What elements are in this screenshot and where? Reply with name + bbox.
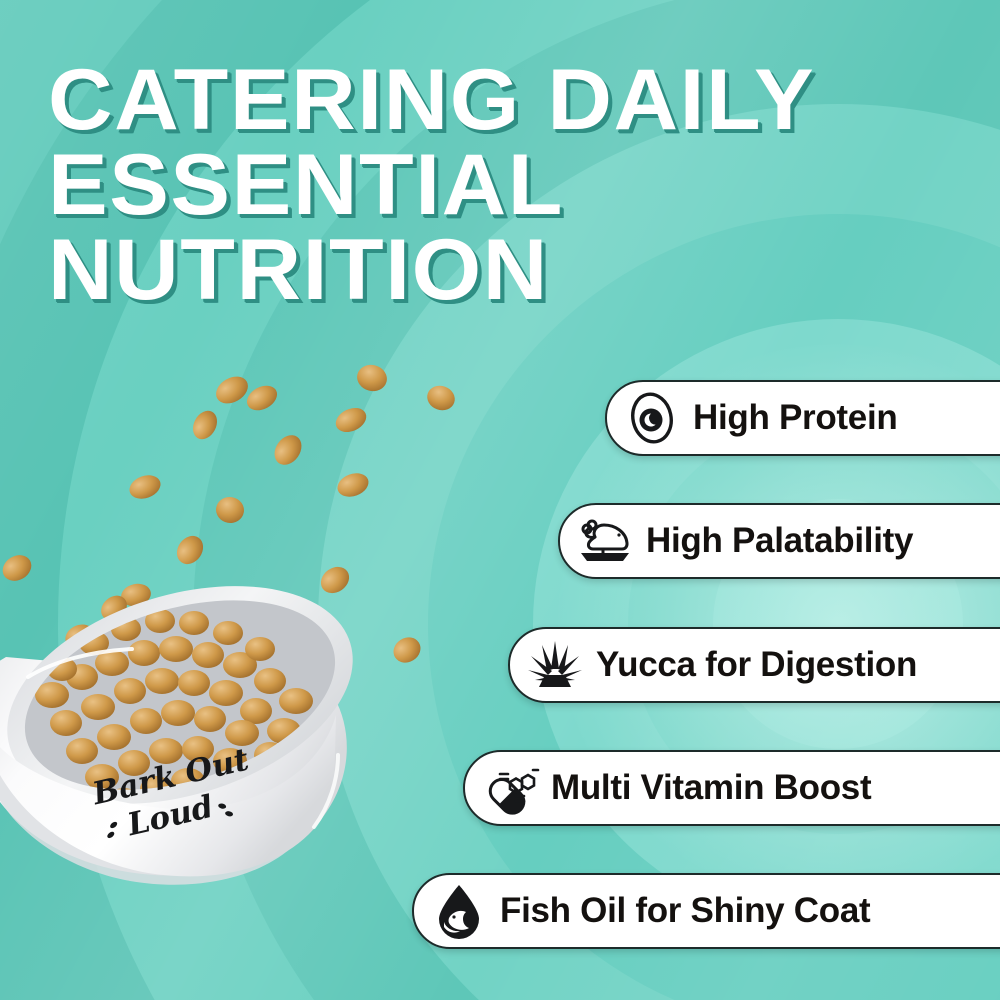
- feature-pill-multi-vitamin[interactable]: Multi Vitamin Boost: [463, 750, 1000, 826]
- vitamin-pill-icon: [477, 758, 543, 818]
- feature-label: Yucca for Digestion: [596, 645, 917, 685]
- egg-icon: [619, 388, 685, 448]
- feature-label: Multi Vitamin Boost: [551, 768, 871, 808]
- feature-pill-yucca-digestion[interactable]: Yucca for Digestion: [508, 627, 1000, 703]
- yucca-plant-icon: [522, 635, 588, 695]
- poster-canvas: CATERING DAILY ESSENTIAL NUTRITION: [0, 0, 1000, 1000]
- feature-pill-high-palatability[interactable]: High Palatability: [558, 503, 1000, 579]
- feature-label: Fish Oil for Shiny Coat: [500, 891, 870, 931]
- feature-label: High Protein: [693, 398, 897, 438]
- page-title: CATERING DAILY ESSENTIAL NUTRITION: [48, 58, 1000, 313]
- feature-label: High Palatability: [646, 521, 913, 561]
- dog-food-bowl: Bark Out Loud: [0, 565, 392, 895]
- feature-pill-high-protein[interactable]: High Protein: [605, 380, 1000, 456]
- roast-chicken-icon: [572, 511, 638, 571]
- feature-pill-fish-oil[interactable]: Fish Oil for Shiny Coat: [412, 873, 1000, 949]
- fish-oil-drop-icon: [426, 881, 492, 941]
